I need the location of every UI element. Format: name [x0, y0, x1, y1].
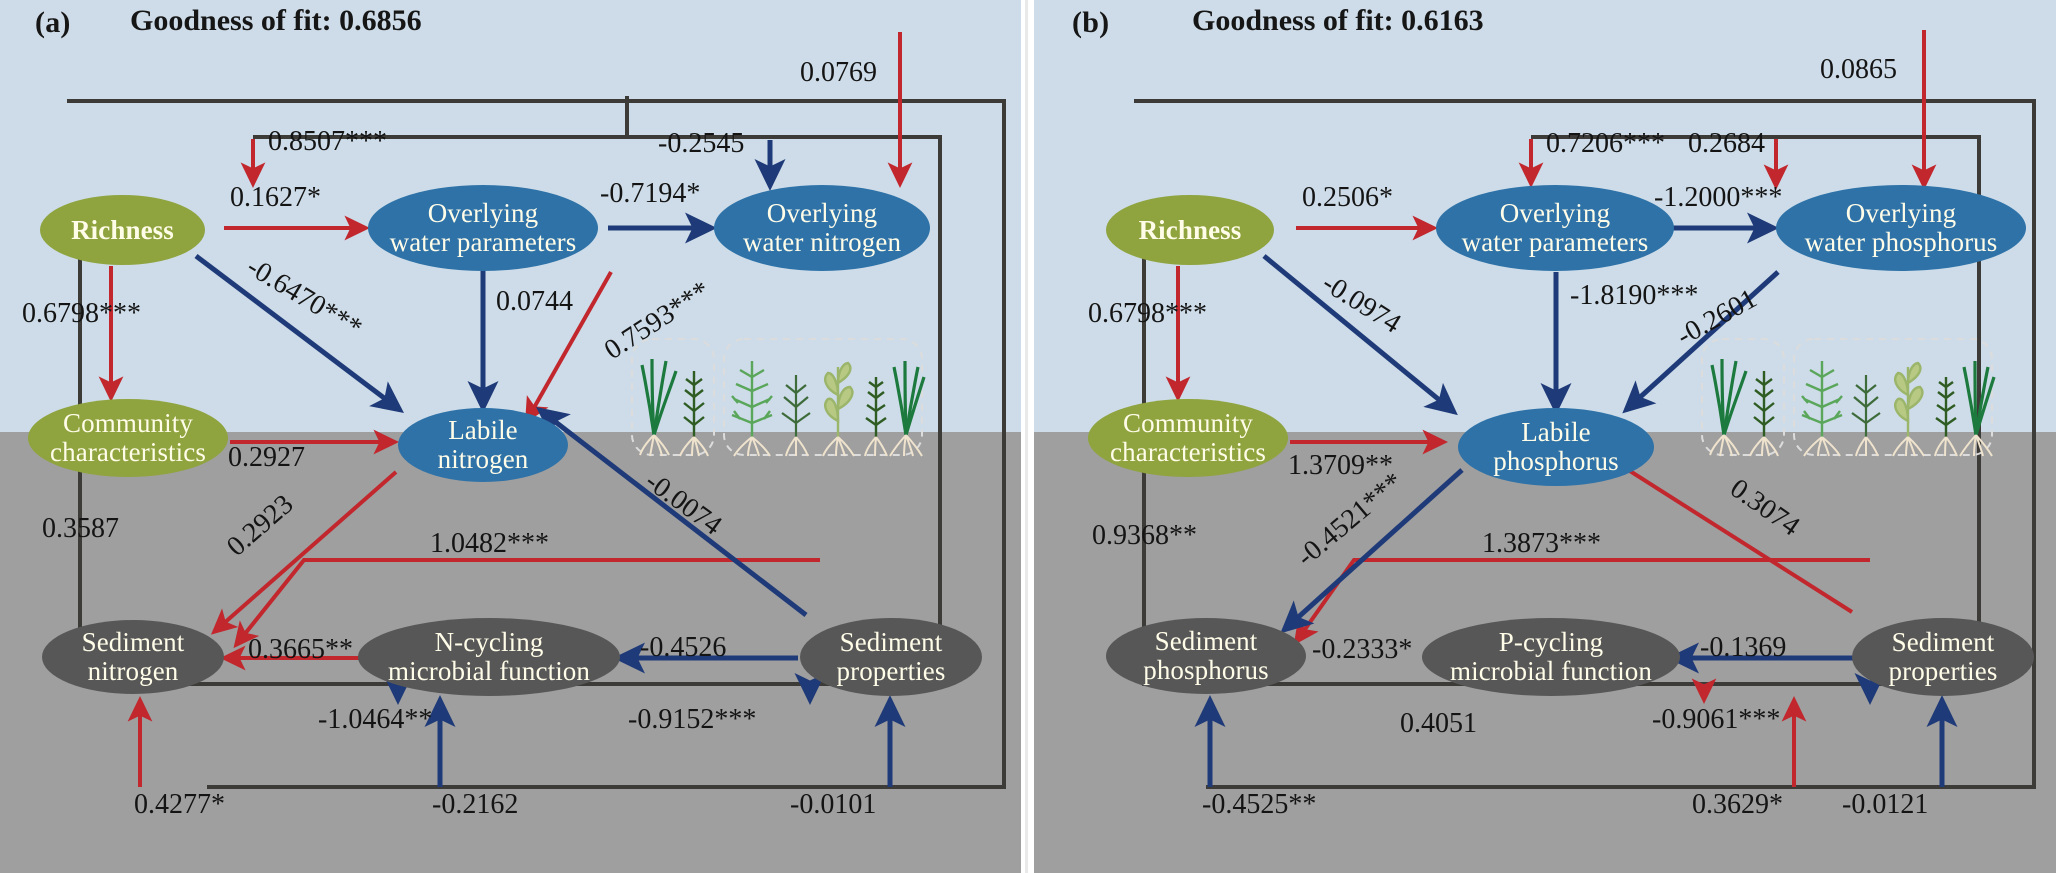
panel-b: (b) Goodness of fit: 0.6163 Richness Com… [1034, 0, 2056, 873]
node-labile-phosphorus[interactable]: Labile phosphorus [1458, 408, 1654, 486]
panel-divider [1025, 0, 1028, 873]
coef-frame-ncyc: -1.0464** [318, 704, 432, 736]
node-label: P-cycling microbial function [1450, 628, 1652, 685]
node-label: Sediment properties [837, 628, 946, 685]
coef-community-sedn: 0.3587 [42, 513, 119, 545]
node-sediment-phosphorus[interactable]: Sediment phosphorus [1106, 618, 1306, 694]
node-label: Sediment phosphorus [1143, 627, 1269, 684]
coef-owp-labile: -1.8190*** [1570, 280, 1698, 312]
panel-b-tag: (b) [1072, 6, 1109, 40]
panel-a-goodness-of-fit: Goodness of fit: 0.6856 [130, 4, 422, 38]
coef-frame-own-2: 0.0769 [800, 57, 877, 89]
coef-frame-owp: 0.8507*** [268, 126, 387, 158]
coef-owp-owph: -1.2000*** [1654, 182, 1782, 214]
node-label: Labile nitrogen [438, 416, 529, 473]
macrophyte-illustration [1698, 335, 1998, 460]
node-label: N-cycling microbial function [388, 628, 590, 685]
panel-a-tag: (a) [35, 6, 71, 40]
node-community-characteristics[interactable]: Community characteristics [28, 399, 228, 477]
node-sediment-properties[interactable]: Sediment properties [800, 618, 982, 696]
node-label: Overlying water phosphorus [1805, 199, 1998, 256]
coef-richness-owp: 0.1627* [230, 182, 321, 214]
node-label: Overlying water nitrogen [743, 199, 901, 256]
coef-frame-sedprop-2: -0.0121 [1842, 789, 1928, 821]
coef-frame-sedprop: -0.9061*** [1652, 704, 1780, 736]
node-label: Overlying water parameters [1462, 199, 1649, 256]
node-overlying-water-parameters[interactable]: Overlying water parameters [1436, 185, 1674, 271]
coef-sedprop-ncyc: -0.4526 [640, 632, 726, 664]
node-richness[interactable]: Richness [40, 195, 205, 265]
coef-frame-pcyc-2: 0.3629* [1692, 789, 1783, 821]
macrophyte-illustration [628, 335, 928, 460]
node-labile-nitrogen[interactable]: Labile nitrogen [398, 408, 568, 482]
node-label: Richness [71, 216, 174, 245]
node-label: Sediment properties [1889, 628, 1998, 685]
node-overlying-water-nitrogen[interactable]: Overlying water nitrogen [714, 185, 930, 271]
coef-frame-owph: 0.2684 [1688, 128, 1765, 160]
panel-a: (a) Goodness of fit: 0.6856 Richness Com… [0, 0, 1021, 873]
coef-frame-sedprop: -0.9152*** [628, 704, 756, 736]
node-label: Overlying water parameters [390, 199, 577, 256]
node-label: Sediment nitrogen [82, 628, 185, 685]
coef-owp-own: -0.7194* [600, 178, 700, 210]
panel-b-goodness-of-fit: Goodness of fit: 0.6163 [1192, 4, 1484, 38]
coef-frame-owph-2: 0.0865 [1820, 54, 1897, 86]
coef-pcyc-sedp: -0.2333* [1312, 634, 1412, 666]
node-overlying-water-phosphorus[interactable]: Overlying water phosphorus [1776, 185, 2026, 271]
node-label: Richness [1139, 216, 1242, 245]
node-label: Community characteristics [1110, 409, 1266, 466]
coef-richness-owp: 0.2506* [1302, 182, 1393, 214]
coef-sedprop-sedp: 1.3873*** [1482, 528, 1601, 560]
coef-frame-ncyc-2: -0.2162 [432, 789, 518, 821]
node-richness[interactable]: Richness [1106, 195, 1274, 265]
coef-frame-sedprop-2: -0.0101 [790, 789, 876, 821]
node-label: Labile phosphorus [1493, 418, 1619, 475]
coef-ncyc-sedn: 0.3665** [248, 634, 353, 666]
node-n-cycling-microbial-function[interactable]: N-cycling microbial function [358, 618, 620, 696]
coef-frame-owp: 0.7206*** [1546, 128, 1665, 160]
node-label: Community characteristics [50, 409, 206, 466]
node-community-characteristics[interactable]: Community characteristics [1088, 399, 1288, 477]
coef-frame-own: -0.2545 [658, 128, 744, 160]
coef-richness-community: 0.6798*** [1088, 298, 1207, 330]
node-sediment-properties[interactable]: Sediment properties [1852, 618, 2034, 696]
figure-root: (a) Goodness of fit: 0.6856 Richness Com… [0, 0, 2056, 873]
coef-community-labile: 0.2927 [228, 442, 305, 474]
coef-frame-sedn: 0.4277* [134, 789, 225, 821]
coef-frame-sedp: -0.4525** [1202, 789, 1316, 821]
node-sediment-nitrogen[interactable]: Sediment nitrogen [42, 620, 224, 694]
coef-community-sedp: 0.9368** [1092, 520, 1197, 552]
node-p-cycling-microbial-function[interactable]: P-cycling microbial function [1422, 618, 1680, 696]
coef-sedprop-pcyc: -0.1369 [1700, 632, 1786, 664]
coef-frame-pcyc: 0.4051 [1400, 708, 1477, 740]
coef-richness-community: 0.6798*** [22, 298, 141, 330]
coef-sedprop-sedn: 1.0482*** [430, 528, 549, 560]
node-overlying-water-parameters[interactable]: Overlying water parameters [368, 185, 598, 271]
coef-owp-labile: 0.0744 [496, 286, 573, 318]
